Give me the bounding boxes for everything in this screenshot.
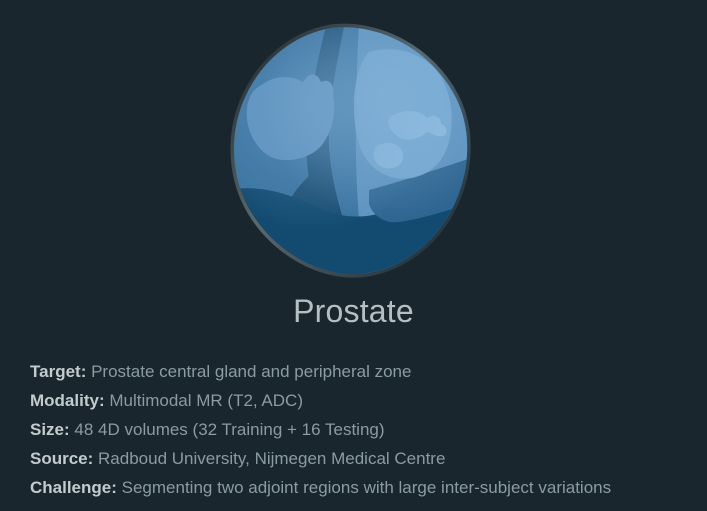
detail-label-challenge: Challenge:	[30, 478, 117, 497]
prostate-illustration	[0, 22, 707, 284]
detail-label-target: Target:	[30, 362, 86, 381]
detail-row-challenge: Challenge: Segmenting two adjoint region…	[30, 473, 707, 502]
detail-value-target: Prostate central gland and peripheral zo…	[91, 362, 411, 381]
detail-row-modality: Modality: Multimodal MR (T2, ADC)	[30, 386, 707, 415]
detail-label-modality: Modality:	[30, 391, 105, 410]
detail-row-source: Source: Radboud University, Nijmegen Med…	[30, 444, 707, 473]
detail-label-source: Source:	[30, 449, 93, 468]
detail-label-size: Size:	[30, 420, 70, 439]
detail-value-challenge: Segmenting two adjoint regions with larg…	[122, 478, 611, 497]
detail-value-source: Radboud University, Nijmegen Medical Cen…	[98, 449, 445, 468]
dataset-card: Prostate Target: Prostate central gland …	[0, 0, 707, 511]
organ-body	[219, 22, 489, 284]
dataset-details: Target: Prostate central gland and perip…	[30, 357, 707, 502]
detail-value-size: 48 4D volumes (32 Training + 16 Testing)	[74, 420, 384, 439]
prostate-3d-model-icon	[219, 22, 489, 284]
detail-row-size: Size: 48 4D volumes (32 Training + 16 Te…	[30, 415, 707, 444]
page-title: Prostate	[0, 290, 707, 332]
gloss-right	[219, 22, 489, 284]
detail-value-modality: Multimodal MR (T2, ADC)	[109, 391, 303, 410]
detail-row-target: Target: Prostate central gland and perip…	[30, 357, 707, 386]
